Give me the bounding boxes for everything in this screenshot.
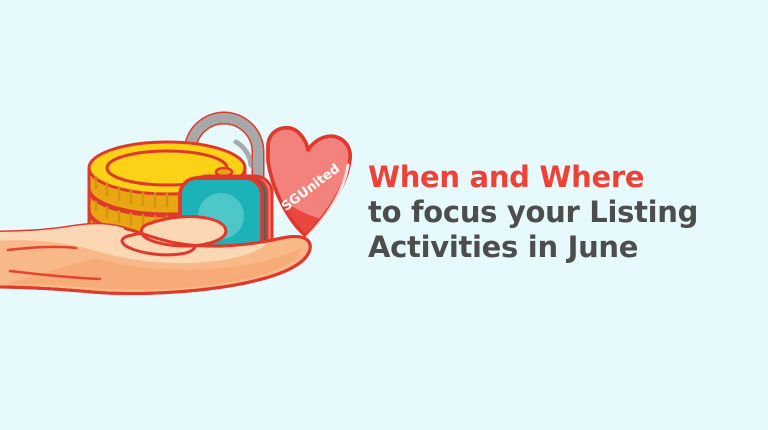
headline-line-3: Activities in June: [368, 230, 708, 265]
headline-line-2: to focus your Listing: [368, 195, 708, 230]
headline-line-1: When and Where: [368, 160, 708, 195]
headline-block: When and Where to focus your Listing Act…: [368, 160, 708, 265]
promotional-banner: #SGUnited: [0, 0, 768, 430]
